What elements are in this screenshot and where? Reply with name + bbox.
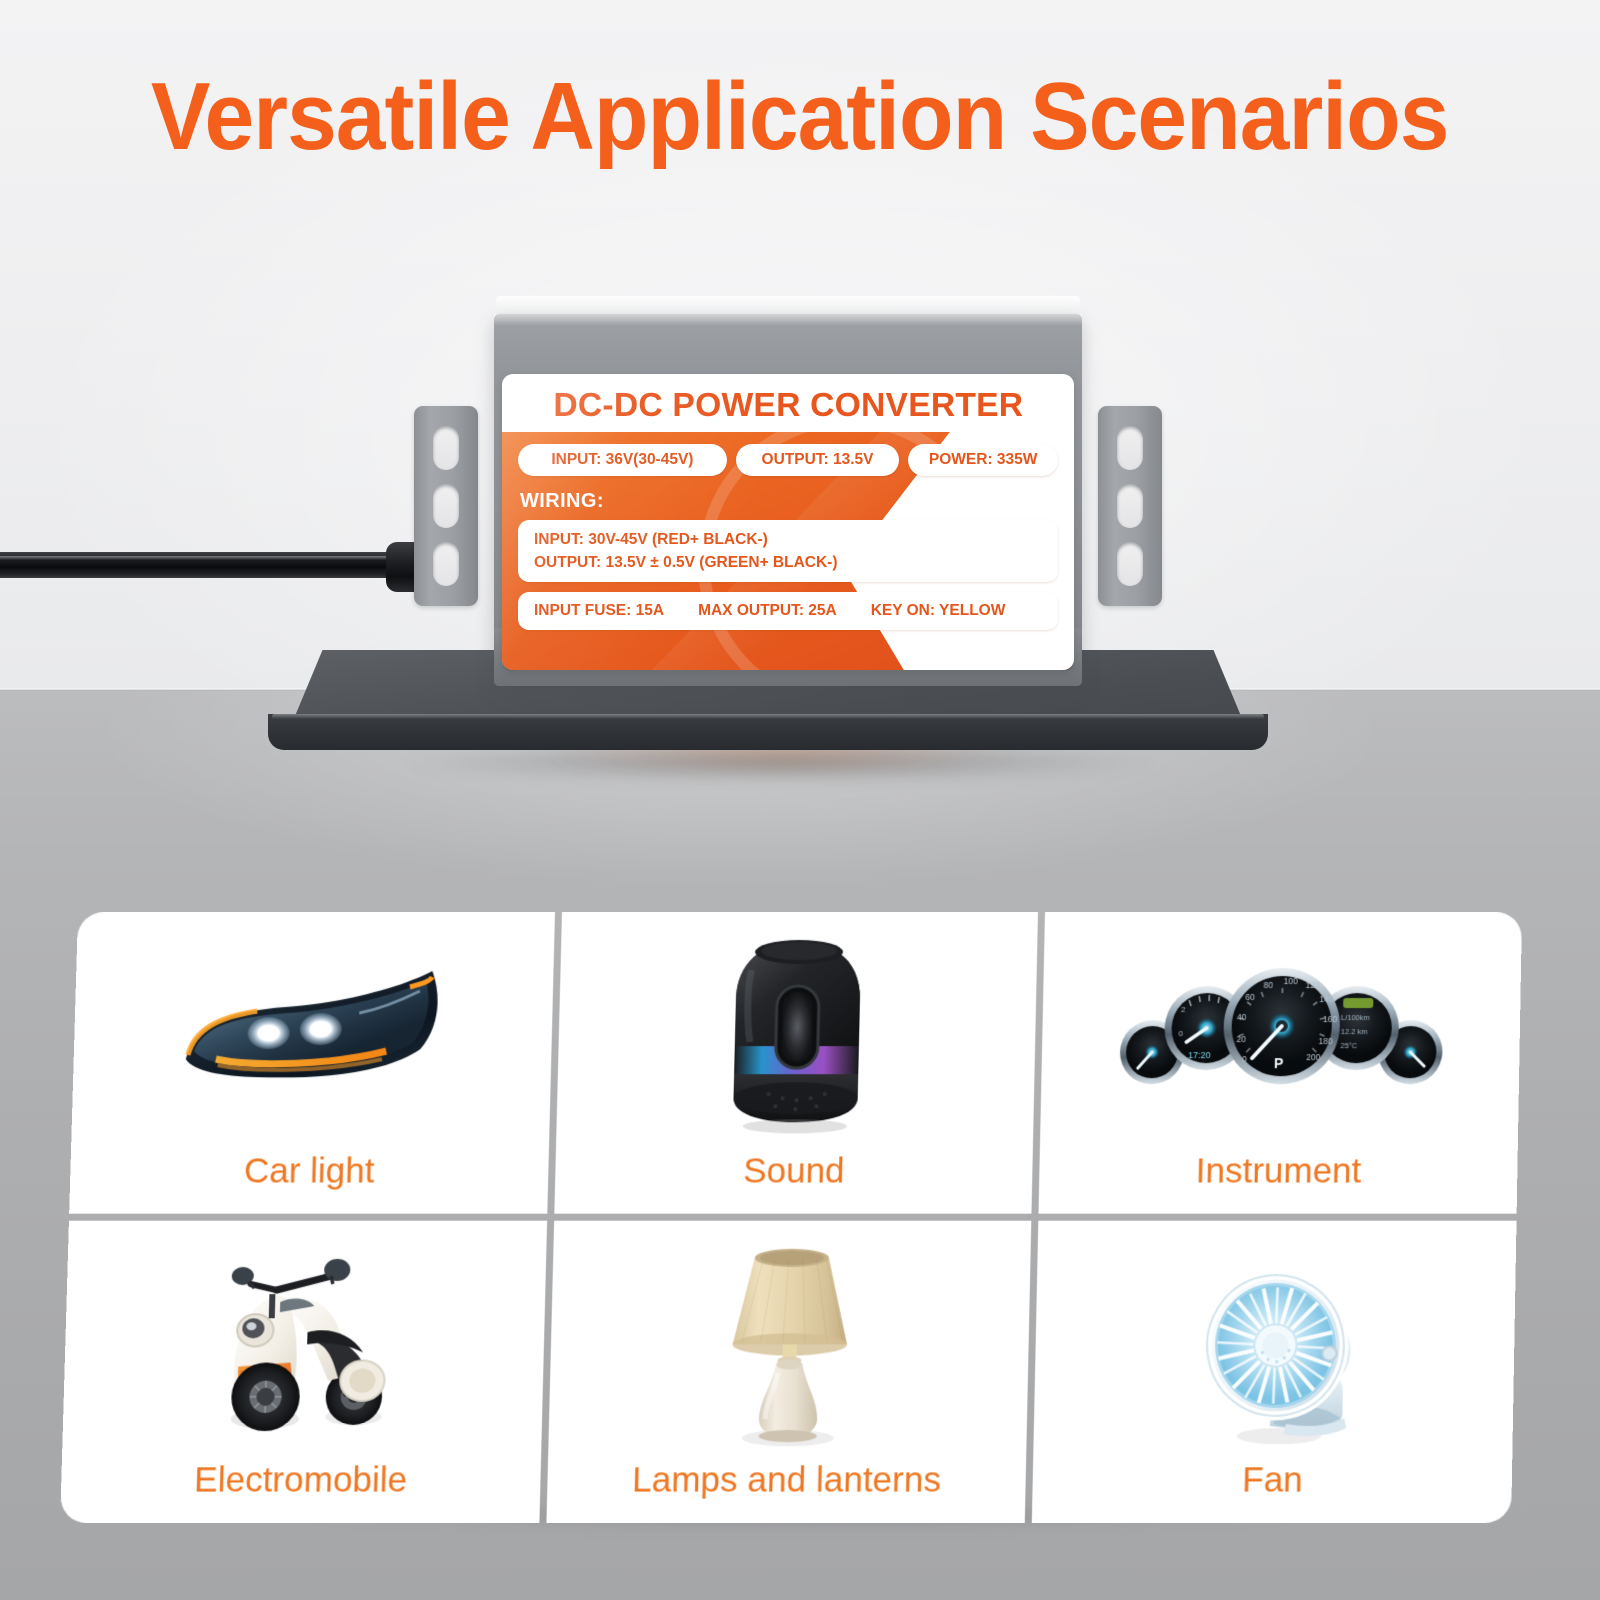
dc-dc-converter-device: DC-DC POWER CONVERTER INPUT: 36V(30-45V)… [408,288,1168,718]
bracket-slot [433,542,459,586]
svg-text:17:20: 17:20 [1188,1050,1211,1060]
bracket-slot [1117,484,1143,528]
bracket-slot [433,484,459,528]
svg-text:120: 120 [1305,980,1320,990]
label-title-text: DC-DC POWER CONVERTER [553,386,1023,424]
wiring-input-line: INPUT: 30V-45V (RED+ BLACK-) [534,529,1058,552]
label-header: DC-DC POWER CONVERTER [502,374,1074,436]
bracket-slot [433,426,459,470]
key-on-value: KEY ON: YELLOW [871,602,1006,620]
svg-text:60: 60 [1245,992,1255,1002]
power-cable [0,540,434,592]
bracket-slot [1117,426,1143,470]
svg-text:25°C: 25°C [1340,1041,1358,1050]
input-fuse-value: INPUT FUSE: 15A [534,602,664,620]
scenario-card-fan[interactable]: Fan [1032,1220,1516,1523]
wiring-details-box: INPUT: 30V-45V (RED+ BLACK-) OUTPUT: 13.… [518,520,1058,582]
scenario-card-label: Lamps and lanterns [632,1460,942,1500]
scenario-card-label: Fan [1242,1460,1303,1500]
wiring-heading: WIRING: [520,490,604,513]
svg-text:180: 180 [1318,1036,1333,1046]
gauge-cluster-icon: 02 17:20 L/100km12.2 km25°C [1040,926,1521,1137]
svg-text:0: 0 [1242,1054,1247,1064]
mounting-bracket-right [1098,406,1162,606]
svg-text:L/100km: L/100km [1341,1013,1370,1022]
svg-text:140: 140 [1319,994,1334,1004]
device-housing-highlight [494,314,1082,326]
scenario-grid: Car light [60,912,1522,1523]
scenario-card-label: Electromobile [194,1460,408,1500]
spec-pill-power: POWER: 335W [908,444,1058,476]
svg-text:40: 40 [1236,1012,1246,1022]
scenario-card-label: Sound [743,1151,845,1191]
car-headlight-icon [71,926,554,1137]
scenario-card-electromobile[interactable]: Electromobile [60,1220,547,1523]
page-title: Versatile Application Scenarios [0,62,1600,172]
platform-edge [268,714,1268,750]
bracket-slot [1117,542,1143,586]
wiring-output-line: OUTPUT: 13.5V ± 0.5V (GREEN+ BLACK-) [534,552,1058,575]
fuse-details-box: INPUT FUSE: 15A MAX OUTPUT: 25A KEY ON: … [518,592,1058,630]
svg-text:0: 0 [1178,1029,1183,1038]
svg-text:P: P [1274,1055,1284,1071]
scenario-card-instrument[interactable]: 02 17:20 L/100km12.2 km25°C [1039,912,1522,1213]
cable-highlight [0,556,394,560]
spec-pill-input: INPUT: 36V(30-45V) [518,444,727,476]
svg-text:12.2 km: 12.2 km [1340,1027,1367,1036]
svg-text:80: 80 [1263,980,1273,990]
spec-pill-row: INPUT: 36V(30-45V) OUTPUT: 13.5V POWER: … [518,444,1058,476]
svg-text:100: 100 [1283,976,1298,986]
clip-fan-icon [1034,1234,1516,1446]
smart-speaker-icon [556,926,1038,1137]
page-title-text: Versatile Application Scenarios [151,62,1449,172]
scenario-card-lamps[interactable]: Lamps and lanterns [546,1220,1032,1523]
electric-scooter-icon [62,1234,546,1446]
scenario-card-sound[interactable]: Sound [554,912,1038,1213]
svg-text:2: 2 [1181,1005,1186,1014]
table-lamp-icon [548,1234,1031,1446]
max-output-value: MAX OUTPUT: 25A [698,602,837,620]
product-label: DC-DC POWER CONVERTER INPUT: 36V(30-45V)… [502,374,1074,670]
svg-text:200: 200 [1306,1052,1321,1062]
scenario-card-label: Instrument [1195,1151,1361,1191]
scenario-card-car-light[interactable]: Car light [69,912,554,1213]
scenario-card-label: Car light [243,1151,375,1191]
svg-text:160: 160 [1322,1014,1337,1024]
spec-pill-output: OUTPUT: 13.5V [736,444,900,476]
mounting-bracket-left [414,406,478,606]
